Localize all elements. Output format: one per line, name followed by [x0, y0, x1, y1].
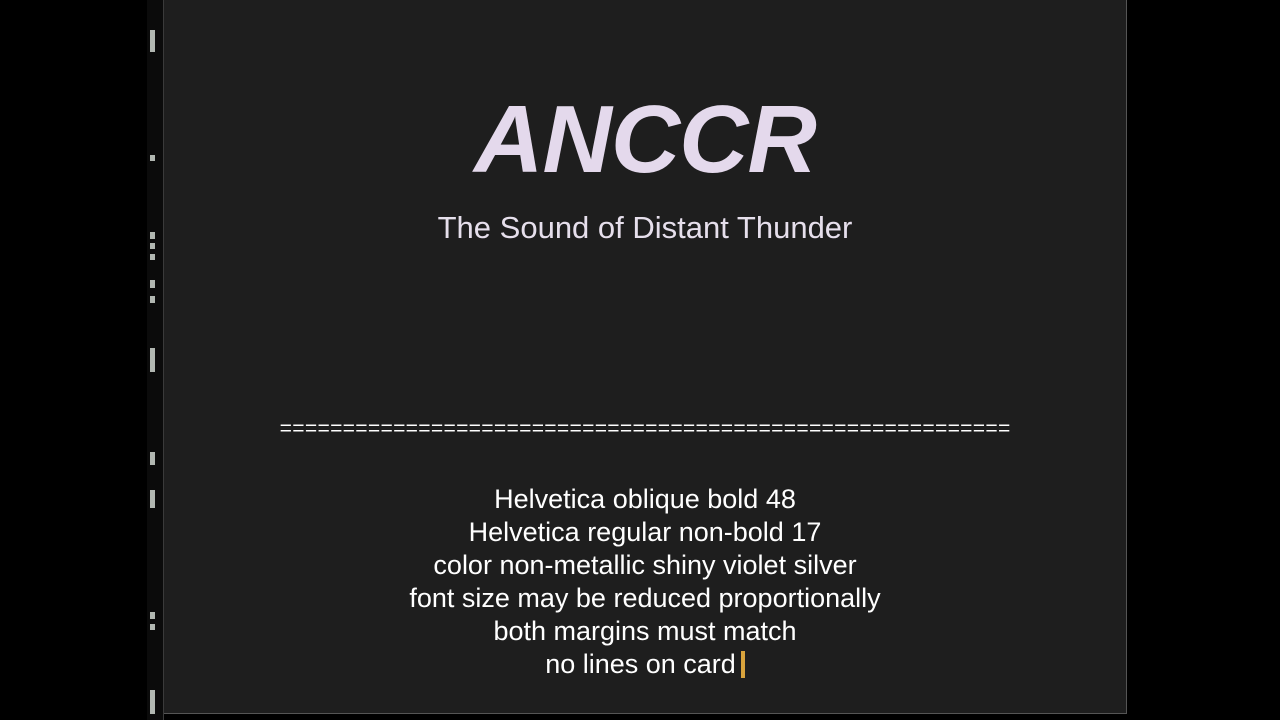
sliver-glyph-fragment — [150, 624, 155, 630]
sliver-glyph-fragment — [150, 243, 155, 249]
card-subtitle: The Sound of Distant Thunder — [164, 188, 1126, 243]
note-line: Helvetica regular non-bold 17 — [164, 516, 1126, 549]
sliver-glyph-fragment — [150, 296, 155, 303]
note-line: color non-metallic shiny violet silver — [164, 549, 1126, 582]
note-line: Helvetica oblique bold 48 — [164, 483, 1126, 516]
sliver-glyph-fragment — [150, 690, 155, 714]
screen-background: ANCCR The Sound of Distant Thunder =====… — [0, 0, 1280, 720]
note-line: both margins must match — [164, 615, 1126, 648]
sliver-glyph-fragment — [150, 232, 155, 239]
sliver-glyph-fragment — [150, 254, 155, 260]
notes-block: Helvetica oblique bold 48 Helvetica regu… — [164, 483, 1126, 681]
sliver-glyph-fragment — [150, 452, 155, 465]
sliver-glyph-fragment — [150, 280, 155, 288]
presentation-card[interactable]: ANCCR The Sound of Distant Thunder =====… — [164, 0, 1127, 714]
sliver-glyph-fragment — [150, 348, 155, 372]
sliver-glyph-fragment — [150, 30, 155, 52]
card-title: ANCCR — [164, 92, 1126, 188]
note-line: font size may be reduced proportionally — [164, 582, 1126, 615]
background-window-sliver[interactable] — [147, 0, 164, 720]
note-line-text: no lines on card — [545, 649, 736, 679]
title-block: ANCCR The Sound of Distant Thunder — [164, 92, 1126, 243]
sliver-glyph-fragment — [150, 612, 155, 619]
text-cursor-caret — [741, 651, 745, 678]
note-line-with-caret[interactable]: no lines on card — [164, 648, 1126, 681]
sliver-glyph-fragment — [150, 155, 155, 161]
sliver-glyph-fragment — [150, 490, 155, 508]
separator-rule: ========================================… — [164, 420, 1126, 442]
